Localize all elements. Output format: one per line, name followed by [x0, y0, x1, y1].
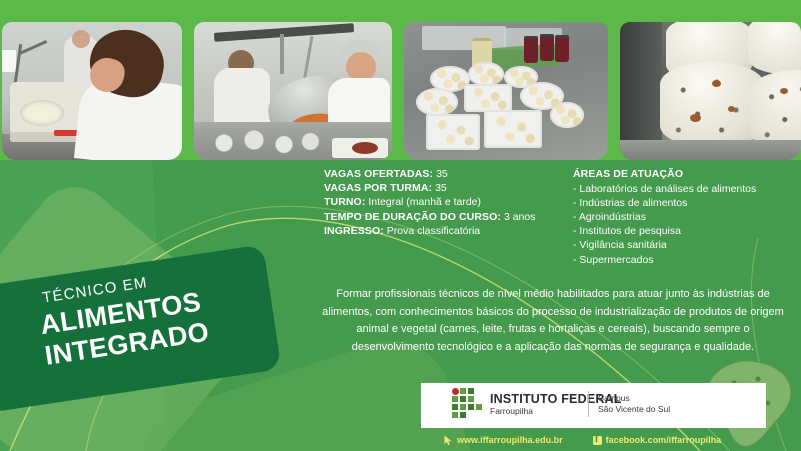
info-value: Integral (manhã e tarde)	[368, 196, 481, 208]
info-label: VAGAS POR TURMA:	[324, 182, 432, 194]
map-dot	[755, 376, 760, 381]
photo-strip	[0, 0, 801, 160]
areas-title: ÁREAS DE ATUAÇÃO	[573, 167, 798, 182]
info-row-vagas-ofertadas: VAGAS OFERTADAS: 35	[324, 167, 564, 181]
area-item: - Indústrias de alimentos	[573, 196, 798, 210]
course-poster: VAGAS OFERTADAS: 35 VAGAS POR TURMA: 35 …	[0, 0, 801, 451]
info-label: VAGAS OFERTADAS:	[324, 168, 433, 180]
website-link-label: www.iffarroupilha.edu.br	[457, 435, 563, 445]
map-dot	[766, 401, 771, 406]
facebook-icon	[593, 436, 602, 445]
instituto-federal-logo-icon	[452, 388, 482, 420]
lab-analysis-photo	[2, 22, 182, 160]
info-row-turno: TURNO: Integral (manhã e tarde)	[324, 195, 564, 209]
facebook-link-label: facebook.com/iffarroupilha	[606, 435, 722, 445]
info-value: 35	[436, 168, 448, 180]
info-value: 3 anos	[504, 211, 536, 223]
area-item: - Institutos de pesquisa	[573, 224, 798, 238]
area-item: - Supermercados	[573, 253, 798, 267]
info-label: TEMPO DE DURAÇÃO DO CURSO:	[324, 211, 501, 223]
campus-name: São Vicente do Sul	[598, 404, 670, 415]
cursor-arrow-icon	[444, 435, 453, 446]
campus-info: Campus São Vicente do Sul	[598, 393, 670, 415]
course-info-list: VAGAS OFERTADAS: 35 VAGAS POR TURMA: 35 …	[324, 167, 564, 238]
info-value: 35	[435, 182, 447, 194]
food-trays-photo	[404, 22, 608, 160]
campus-label: Campus	[598, 393, 670, 404]
area-item: - Laboratórios de análises de alimentos	[573, 182, 798, 196]
info-row-ingresso: INGRESSO: Prova classificatória	[324, 224, 564, 238]
info-value: Prova classificatória	[387, 225, 480, 237]
website-link[interactable]: www.iffarroupilha.edu.br	[444, 435, 563, 446]
info-row-vagas-por-turma: VAGAS POR TURMA: 35	[324, 181, 564, 195]
footer-links: www.iffarroupilha.edu.br facebook.com/if…	[444, 433, 764, 447]
course-description: Formar profissionais técnicos de nível m…	[322, 286, 784, 356]
area-item: - Vigilância sanitária	[573, 238, 798, 252]
food-processing-photo	[194, 22, 392, 160]
areas-of-work-list: ÁREAS DE ATUAÇÃO - Laboratórios de análi…	[573, 167, 798, 267]
info-label: INGRESSO:	[324, 225, 384, 237]
logo-divider	[588, 391, 589, 417]
info-row-duracao: TEMPO DE DURAÇÃO DO CURSO: 3 anos	[324, 210, 564, 224]
cheese-wheels-photo	[620, 22, 801, 160]
area-item: - Agroindústrias	[573, 210, 798, 224]
info-label: TURNO:	[324, 196, 365, 208]
facebook-link[interactable]: facebook.com/iffarroupilha	[593, 435, 722, 445]
logo-red-dot	[452, 388, 459, 395]
